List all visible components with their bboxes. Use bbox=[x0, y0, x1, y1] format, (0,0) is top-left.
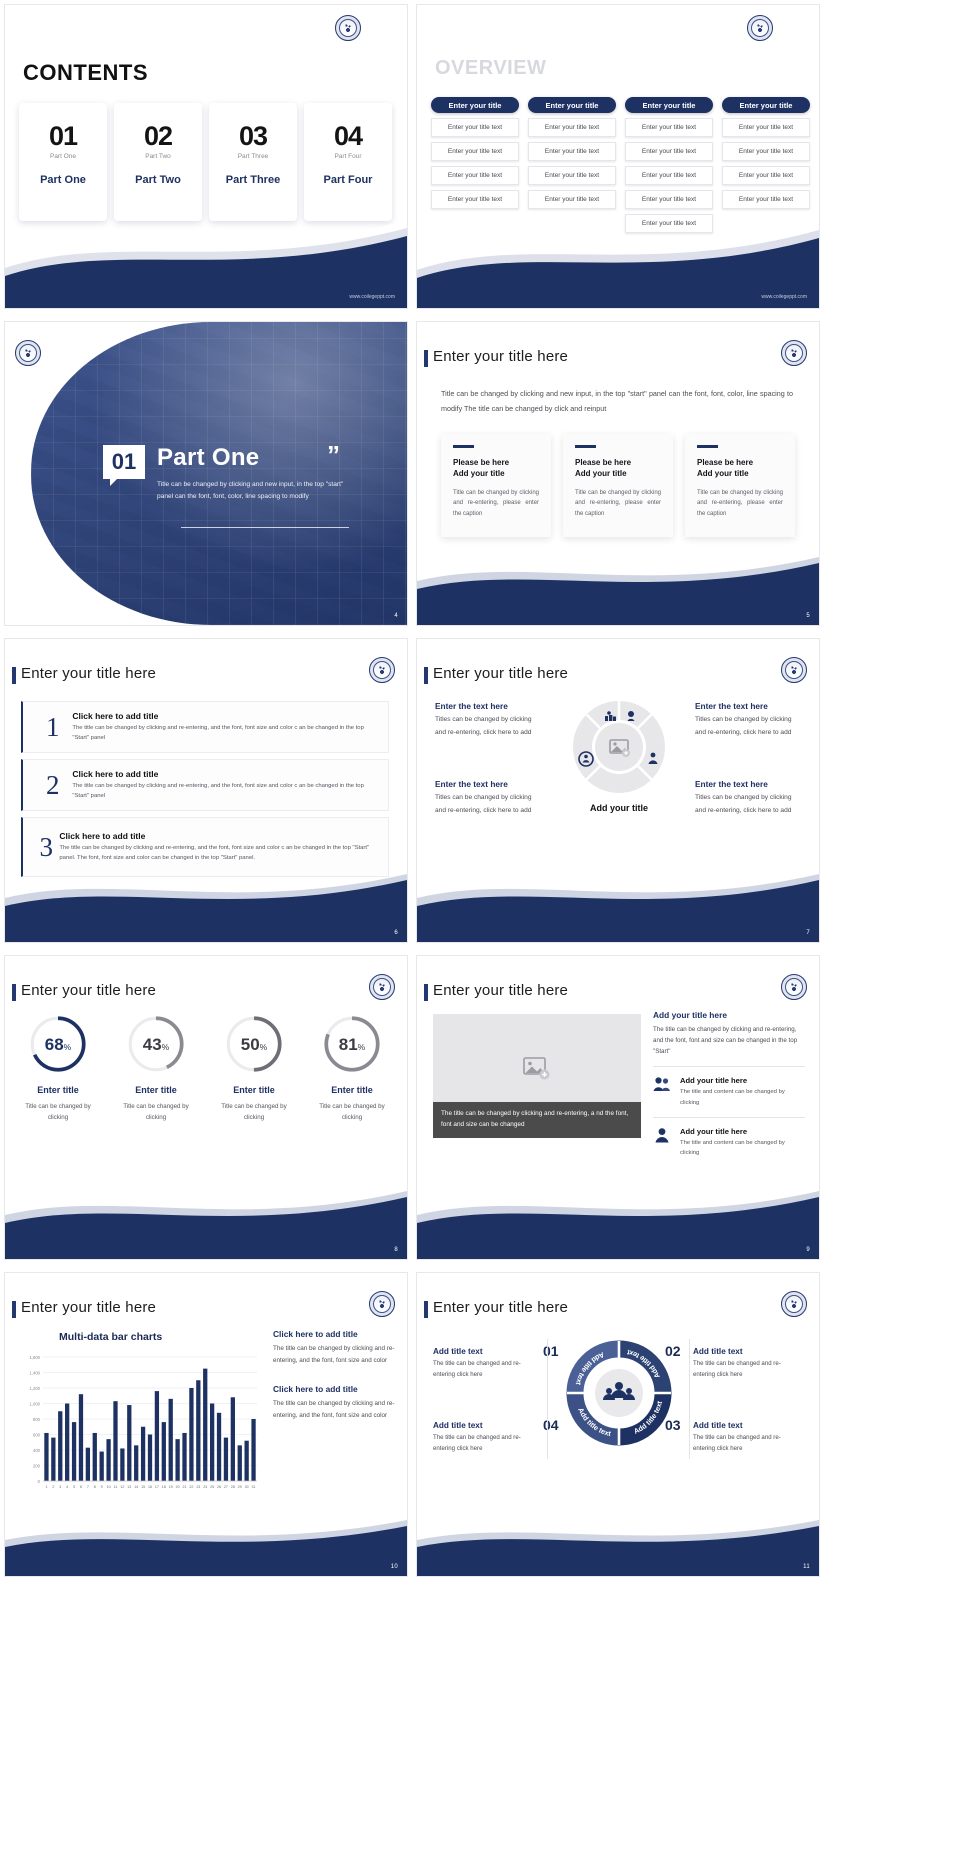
donut-label: Enter title bbox=[331, 1085, 373, 1095]
diagram-label-top-left: Enter the text here Titles can be change… bbox=[435, 701, 543, 740]
block-title: Enter the text here bbox=[435, 701, 543, 711]
page-title: Enter your title here bbox=[21, 982, 156, 999]
svg-text:15: 15 bbox=[141, 1485, 145, 1489]
card-number: 01 bbox=[49, 121, 77, 152]
block-text: Titles can be changed by clicking and re… bbox=[695, 714, 803, 740]
university-crest-icon bbox=[781, 657, 807, 683]
university-crest-icon bbox=[15, 340, 41, 366]
svg-text:800: 800 bbox=[33, 1417, 41, 1422]
page-title: Enter your title here bbox=[21, 665, 156, 682]
slide-thumbnail-grid: CONTENTS 01 Part One Part One 02 Part Tw… bbox=[0, 0, 960, 1581]
list-item-title: Click here to add title bbox=[59, 831, 378, 841]
decorative-wave bbox=[5, 1185, 407, 1259]
slide-circle-diagram[interactable]: Enter your title here Enter the text her… bbox=[416, 638, 820, 943]
donut-ring: 68 % bbox=[28, 1014, 88, 1074]
footer-url: www.coilegeppt.com bbox=[761, 294, 807, 300]
donut-ring: 43 % bbox=[126, 1014, 186, 1074]
feature-card-text: Title can be changed by clicking and re-… bbox=[453, 488, 539, 520]
side-note-title: Click here to add title bbox=[273, 1329, 397, 1339]
svg-text:20: 20 bbox=[176, 1485, 180, 1489]
list-item[interactable]: Add your title here The title and conten… bbox=[653, 1117, 805, 1158]
page-title: CONTENTS bbox=[23, 60, 148, 86]
feature-card-text: Title can be changed by clicking and re-… bbox=[697, 488, 783, 520]
svg-text:18: 18 bbox=[162, 1485, 166, 1489]
card-subtitle: Part One bbox=[50, 153, 76, 160]
decorative-wave bbox=[417, 1516, 819, 1576]
page-title: Enter your title here bbox=[433, 982, 568, 999]
lead-paragraph: Title can be changed by clicking and new… bbox=[441, 387, 793, 417]
overview-cell[interactable]: Enter your title text bbox=[431, 166, 519, 185]
feature-card-text: Title can be changed by clicking and re-… bbox=[575, 488, 661, 520]
list-number: 3 bbox=[33, 834, 59, 861]
list-item-text: The title can be changed by clicking and… bbox=[72, 724, 378, 743]
svg-text:9: 9 bbox=[101, 1485, 103, 1489]
list-item[interactable]: 2 Click here to add title The title can … bbox=[21, 759, 389, 811]
card-label: Part Two bbox=[135, 174, 181, 186]
donut-ring: 50 % bbox=[224, 1014, 284, 1074]
list-item-text: The title can be changed by clicking and… bbox=[72, 782, 378, 801]
slide-bar-chart[interactable]: Enter your title here Multi-data bar cha… bbox=[4, 1272, 408, 1577]
donut-percent-sign: % bbox=[64, 1042, 72, 1052]
page-title: Enter your title here bbox=[433, 348, 568, 365]
list-item-title: Click here to add title bbox=[72, 769, 378, 779]
donut-value: 68 bbox=[45, 1035, 64, 1055]
svg-text:11: 11 bbox=[114, 1485, 118, 1489]
quadrant-text: The title can be changed and re-entering… bbox=[693, 1433, 797, 1454]
donut-caption: Title can be changed by clicking bbox=[213, 1102, 295, 1124]
chart-title: Multi-data bar charts bbox=[59, 1331, 162, 1343]
chart-side-notes: Click here to add title The title can be… bbox=[273, 1329, 397, 1422]
university-crest-icon bbox=[781, 340, 807, 366]
svg-text:19: 19 bbox=[169, 1485, 173, 1489]
donut-label: Enter title bbox=[135, 1085, 177, 1095]
column-header-pill[interactable]: Enter your title bbox=[528, 97, 616, 113]
university-crest-icon bbox=[369, 1291, 395, 1317]
decorative-wave bbox=[5, 1516, 407, 1576]
donut-label: Enter title bbox=[37, 1085, 79, 1095]
list-item-title: Click here to add title bbox=[72, 711, 378, 721]
list-item-text: The title can be changed by clicking and… bbox=[59, 844, 378, 863]
section-number-badge: 01 bbox=[103, 445, 145, 479]
svg-text:26: 26 bbox=[217, 1485, 221, 1489]
svg-text:400: 400 bbox=[33, 1448, 41, 1453]
diagram-label-top-right: Enter the text here Titles can be change… bbox=[695, 701, 803, 740]
svg-text:13: 13 bbox=[127, 1485, 131, 1489]
card-label: Part Four bbox=[324, 174, 373, 186]
donut-caption: Title can be changed by clicking bbox=[311, 1102, 393, 1124]
overview-cell[interactable]: Enter your title text bbox=[722, 166, 810, 185]
feature-card-title: Please be here Add your title bbox=[575, 457, 661, 480]
block-title: Enter the text here bbox=[695, 701, 803, 711]
block-text: Titles can be changed by clicking and re… bbox=[695, 792, 803, 818]
add-image-icon bbox=[522, 1055, 552, 1081]
quadrant-title: Add title text bbox=[433, 1347, 537, 1356]
item-text: The title and content can be changed by … bbox=[680, 1138, 805, 1158]
accent-dash bbox=[575, 445, 596, 448]
svg-text:24: 24 bbox=[203, 1485, 207, 1489]
svg-text:1: 1 bbox=[45, 1485, 47, 1489]
card-number: 04 bbox=[334, 121, 362, 152]
column-header-pill[interactable]: Enter your title bbox=[722, 97, 810, 113]
svg-text:27: 27 bbox=[224, 1485, 228, 1489]
svg-text:600: 600 bbox=[33, 1433, 41, 1438]
svg-text:1,000: 1,000 bbox=[30, 1402, 41, 1407]
feature-card[interactable]: Please be here Add your title Title can … bbox=[563, 434, 673, 537]
decorative-wave bbox=[417, 204, 819, 308]
quadrant-text: The title can be changed and re-entering… bbox=[433, 1433, 537, 1454]
overview-cell[interactable]: Enter your title text bbox=[528, 166, 616, 185]
svg-text:5: 5 bbox=[73, 1485, 75, 1489]
svg-text:2: 2 bbox=[52, 1485, 54, 1489]
overview-cell[interactable]: Enter your title text bbox=[625, 142, 713, 161]
page-number: 8 bbox=[394, 1247, 398, 1253]
block-title: Enter the text here bbox=[435, 779, 543, 789]
quadrant-title: Add title text bbox=[433, 1421, 537, 1430]
svg-text:23: 23 bbox=[196, 1485, 200, 1489]
svg-text:7: 7 bbox=[87, 1485, 89, 1489]
svg-text:17: 17 bbox=[155, 1485, 159, 1489]
overview-cell[interactable]: Enter your title text bbox=[528, 118, 616, 137]
page-title: Enter your title here bbox=[433, 1299, 568, 1316]
side-note-text: The title can be changed by clicking and… bbox=[273, 1343, 397, 1366]
university-crest-icon bbox=[781, 1291, 807, 1317]
block-title: Enter the text here bbox=[695, 779, 803, 789]
donut-caption: Title can be changed by clicking bbox=[17, 1102, 99, 1124]
decorative-wave bbox=[417, 551, 819, 625]
donut-caption: Title can be changed by clicking bbox=[115, 1102, 197, 1124]
svg-text:10: 10 bbox=[107, 1485, 111, 1489]
overview-cell[interactable]: Enter your title text bbox=[722, 142, 810, 161]
right-column: Add your title here The title can be cha… bbox=[653, 1010, 805, 1158]
svg-text:12: 12 bbox=[120, 1485, 124, 1489]
image-caption: The title can be changed by clicking and… bbox=[433, 1102, 641, 1138]
side-note-text: The title can be changed by clicking and… bbox=[273, 1398, 397, 1421]
donut-value: 43 bbox=[143, 1035, 162, 1055]
donut-stat[interactable]: 50 % Enter title Title can be changed by… bbox=[213, 1014, 295, 1124]
page-number: 5 bbox=[806, 613, 810, 619]
slide-contents[interactable]: CONTENTS 01 Part One Part One 02 Part Tw… bbox=[4, 4, 408, 309]
list-item[interactable]: Add your title here The title and conten… bbox=[653, 1066, 805, 1107]
slide-part-one-cover[interactable]: 01 Part One ” Title can be changed by cl… bbox=[4, 321, 408, 626]
overview-cell[interactable]: Enter your title text bbox=[625, 166, 713, 185]
donut-stat[interactable]: 43 % Enter title Title can be changed by… bbox=[115, 1014, 197, 1124]
diagram-center-label: Add your title bbox=[569, 803, 669, 813]
card-subtitle: Part Three bbox=[238, 153, 269, 160]
list-number: 1 bbox=[33, 714, 72, 741]
feature-card[interactable]: Please be here Add your title Title can … bbox=[685, 434, 795, 537]
svg-text:25: 25 bbox=[210, 1485, 214, 1489]
footer-url: www.coilegeppt.com bbox=[349, 294, 395, 300]
feature-card[interactable]: Please be here Add your title Title can … bbox=[441, 434, 551, 537]
item-title: Add your title here bbox=[680, 1127, 805, 1136]
svg-text:4: 4 bbox=[66, 1485, 68, 1489]
university-crest-icon bbox=[781, 974, 807, 1000]
card-subtitle: Part Four bbox=[334, 153, 361, 160]
cycle-quadrant-2[interactable]: Add title text The title can be changed … bbox=[693, 1347, 797, 1380]
page-title: OVERVIEW bbox=[435, 57, 546, 80]
card-subtitle: Part Two bbox=[145, 153, 171, 160]
right-heading: Add your title here bbox=[653, 1010, 805, 1020]
page-number: 6 bbox=[394, 930, 398, 936]
svg-text:1,200: 1,200 bbox=[30, 1386, 41, 1391]
page-title: Enter your title here bbox=[21, 1299, 156, 1316]
item-text: The title and content can be changed by … bbox=[680, 1087, 805, 1107]
cycle-quadrant-3[interactable]: Add title text The title can be changed … bbox=[693, 1421, 797, 1454]
quadrant-text: The title can be changed and re-entering… bbox=[693, 1359, 797, 1380]
overview-cell[interactable]: Enter your title text bbox=[625, 118, 713, 137]
group-icon bbox=[653, 1076, 673, 1107]
block-text: Titles can be changed by clicking and re… bbox=[435, 714, 543, 740]
page-number: 9 bbox=[806, 1247, 810, 1253]
slide-three-cards[interactable]: Enter your title here Title can be chang… bbox=[416, 321, 820, 626]
cycle-quadrant-1[interactable]: Add title text The title can be changed … bbox=[433, 1347, 537, 1380]
svg-text:21: 21 bbox=[183, 1485, 187, 1489]
svg-text:1,400: 1,400 bbox=[30, 1371, 41, 1376]
divider-rule bbox=[181, 527, 349, 528]
overview-cell[interactable]: Enter your title text bbox=[431, 118, 519, 137]
donut-value: 50 bbox=[241, 1035, 260, 1055]
radial-segment-diagram[interactable] bbox=[569, 697, 669, 797]
side-note[interactable]: Click here to add title The title can be… bbox=[273, 1329, 397, 1366]
cycle-quadrant-4[interactable]: Add title text The title can be changed … bbox=[433, 1421, 537, 1454]
svg-text:22: 22 bbox=[189, 1485, 193, 1489]
svg-text:14: 14 bbox=[134, 1485, 138, 1489]
university-crest-icon bbox=[747, 15, 773, 41]
svg-text:16: 16 bbox=[148, 1485, 152, 1489]
item-title: Add your title here bbox=[680, 1076, 805, 1085]
svg-text:31: 31 bbox=[252, 1485, 256, 1489]
page-title: Enter your title here bbox=[433, 665, 568, 682]
slide-overview[interactable]: OVERVIEW Enter your title Enter your tit… bbox=[416, 4, 820, 309]
donut-percent-sign: % bbox=[358, 1042, 366, 1052]
accent-dash bbox=[453, 445, 474, 448]
svg-text:28: 28 bbox=[231, 1485, 235, 1489]
right-text: The title can be changed by clicking and… bbox=[653, 1024, 805, 1057]
university-crest-icon bbox=[369, 657, 395, 683]
decorative-wave bbox=[417, 868, 819, 942]
column-header-pill[interactable]: Enter your title bbox=[431, 97, 519, 113]
svg-text:8: 8 bbox=[94, 1485, 96, 1489]
feature-card-row: Please be here Add your title Title can … bbox=[441, 434, 795, 537]
section-description: Title can be changed by clicking and new… bbox=[157, 479, 349, 502]
donut-ring: 81 % bbox=[322, 1014, 382, 1074]
page-number: 7 bbox=[806, 930, 810, 936]
donut-stat[interactable]: 68 % Enter title Title can be changed by… bbox=[17, 1014, 99, 1124]
page-number: 10 bbox=[391, 1564, 398, 1570]
accent-dash bbox=[697, 445, 718, 448]
bar-chart: 02004006008001,0001,2001,4001,6001234567… bbox=[17, 1349, 261, 1499]
page-number: 4 bbox=[394, 613, 398, 619]
section-title: Part One bbox=[157, 444, 259, 472]
page-number: 11 bbox=[803, 1564, 810, 1570]
donut-row: 68 % Enter title Title can be changed by… bbox=[17, 1014, 393, 1124]
slide-cycle-diagram[interactable]: Enter your title here Add title text The… bbox=[416, 1272, 820, 1577]
divider-right bbox=[689, 1339, 690, 1459]
feature-card-title: Please be here Add your title bbox=[453, 457, 539, 480]
quadrant-title: Add title text bbox=[693, 1347, 797, 1356]
donut-stat[interactable]: 81 % Enter title Title can be changed by… bbox=[311, 1014, 393, 1124]
overview-cell[interactable]: Enter your title text bbox=[722, 118, 810, 137]
svg-text:30: 30 bbox=[245, 1485, 249, 1489]
slide-image-and-list[interactable]: Enter your title here The title can be c… bbox=[416, 955, 820, 1260]
donut-percent-sign: % bbox=[260, 1042, 268, 1052]
cover-photo bbox=[31, 322, 407, 625]
card-label: Part Three bbox=[226, 174, 280, 186]
card-number: 02 bbox=[144, 121, 172, 152]
svg-text:6: 6 bbox=[80, 1485, 82, 1489]
block-text: Titles can be changed by clicking and re… bbox=[435, 792, 543, 818]
donut-label: Enter title bbox=[233, 1085, 275, 1095]
decorative-wave bbox=[5, 868, 407, 942]
circular-arrow-diagram[interactable]: Add title text Add title text Add title … bbox=[557, 1331, 681, 1455]
svg-text:200: 200 bbox=[33, 1464, 41, 1469]
diagram-label-bottom-left: Enter the text here Titles can be change… bbox=[435, 779, 543, 818]
card-label: Part One bbox=[40, 174, 86, 186]
list-number: 2 bbox=[33, 772, 72, 799]
feature-card-title: Please be here Add your title bbox=[697, 457, 783, 480]
side-note-title: Click here to add title bbox=[273, 1384, 397, 1394]
svg-text:3: 3 bbox=[59, 1485, 61, 1489]
quadrant-title: Add title text bbox=[693, 1421, 797, 1430]
person-icon bbox=[653, 1127, 673, 1158]
svg-text:0: 0 bbox=[38, 1479, 41, 1484]
column-header-pill[interactable]: Enter your title bbox=[625, 97, 713, 113]
slide-numbered-list[interactable]: Enter your title here 1 Click here to ad… bbox=[4, 638, 408, 943]
university-crest-icon bbox=[335, 15, 361, 41]
donut-value: 81 bbox=[339, 1035, 358, 1055]
donut-percent-sign: % bbox=[162, 1042, 170, 1052]
card-number: 03 bbox=[239, 121, 267, 152]
university-crest-icon bbox=[369, 974, 395, 1000]
quote-mark-icon: ” bbox=[327, 440, 340, 471]
list-item[interactable]: 1 Click here to add title The title can … bbox=[21, 701, 389, 753]
side-note[interactable]: Click here to add title The title can be… bbox=[273, 1384, 397, 1421]
svg-text:29: 29 bbox=[238, 1485, 242, 1489]
divider-left bbox=[547, 1339, 548, 1459]
overview-cell[interactable]: Enter your title text bbox=[431, 142, 519, 161]
diagram-label-bottom-right: Enter the text here Titles can be change… bbox=[695, 779, 803, 818]
quadrant-text: The title can be changed and re-entering… bbox=[433, 1359, 537, 1380]
svg-text:1,600: 1,600 bbox=[30, 1355, 41, 1360]
overview-cell[interactable]: Enter your title text bbox=[528, 142, 616, 161]
decorative-wave bbox=[5, 198, 407, 308]
decorative-wave bbox=[417, 1185, 819, 1259]
slide-percent-donuts[interactable]: Enter your title here 68 % Enter title T… bbox=[4, 955, 408, 1260]
